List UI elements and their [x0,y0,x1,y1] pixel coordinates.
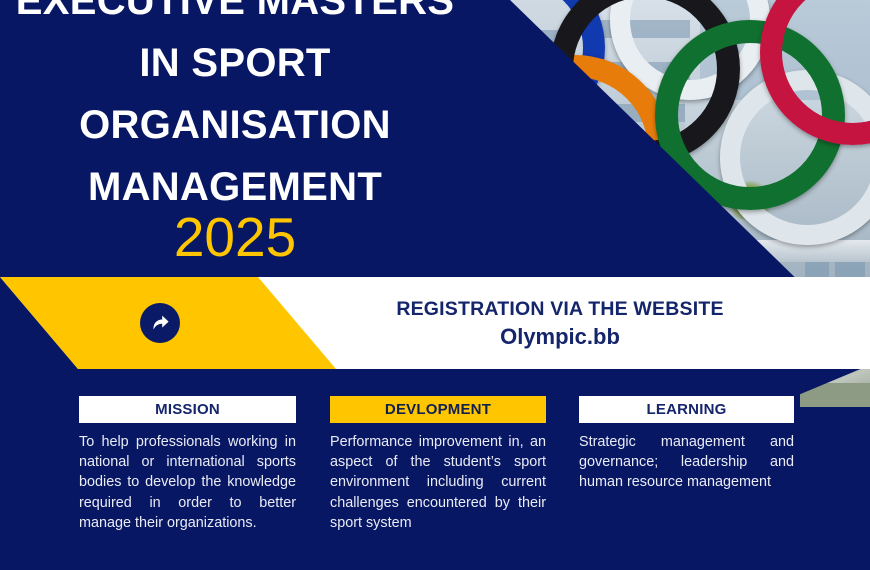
card-title-devlopment: DEVLOPMENT [330,396,546,423]
info-card-learning: LEARNING Strategic management and govern… [579,396,794,493]
card-body-learning: Strategic management and governance; lea… [579,432,794,493]
registration-text: REGISTRATION VIA THE WEBSITE Olympic.bb [375,297,745,351]
headline-year: 2025 [0,208,470,266]
card-body-mission: To help professionals working in nationa… [79,432,296,533]
headline-line-2: IN SPORT [0,32,470,94]
registration-website[interactable]: Olympic.bb [375,323,745,351]
info-cards: MISSION To help professionals working in… [0,396,870,570]
headline-line-1: EXECUTIVE MASTERS [0,0,470,32]
share-arrow-icon[interactable] [140,303,180,343]
card-title-learning: LEARNING [579,396,794,423]
poster-canvas: EXECUTIVE MASTERS IN SPORT ORGANISATION … [0,0,870,570]
headline-line-3: ORGANISATION [0,94,470,156]
info-card-mission: MISSION To help professionals working in… [79,396,296,533]
registration-heading: REGISTRATION VIA THE WEBSITE [375,297,745,322]
info-card-devlopment: DEVLOPMENT Performance improvement in, a… [330,396,546,533]
card-body-devlopment: Performance improvement in, an aspect of… [330,432,546,533]
card-title-mission: MISSION [79,396,296,423]
poster-headline: EXECUTIVE MASTERS IN SPORT ORGANISATION … [0,0,470,218]
